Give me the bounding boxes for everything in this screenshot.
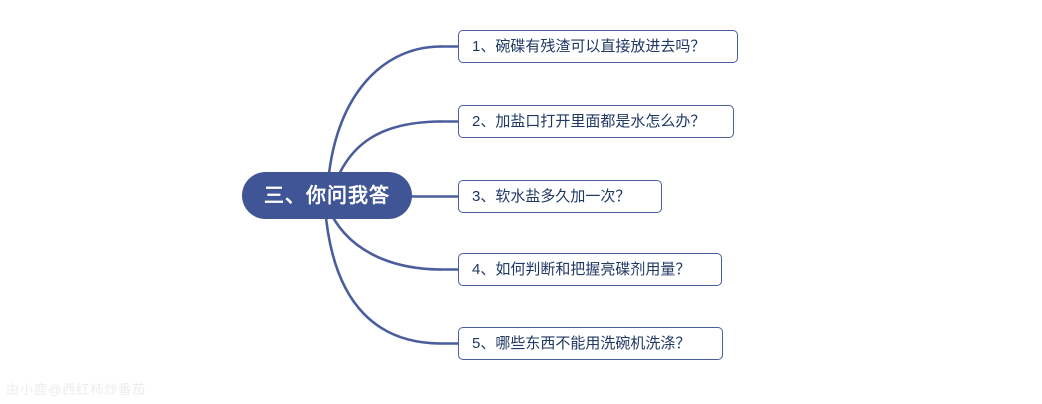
topic-label-4: 4、如何判断和把握亮碟剂用量？ bbox=[472, 262, 690, 277]
topic-box-4[interactable]: 4、如何判断和把握亮碟剂用量？ bbox=[458, 253, 722, 286]
watermark: 由小鹿@西红柿炒番茄 bbox=[6, 379, 146, 398]
topic-label-5: 5、哪些东西不能用洗碗机洗涤？ bbox=[472, 336, 690, 351]
topic-label-3: 3、软水盐多久加一次？ bbox=[472, 189, 630, 204]
central-node[interactable]: 三、你问我答 bbox=[242, 172, 412, 219]
topic-label-2: 2、加盐口打开里面都是水怎么办？ bbox=[472, 114, 705, 129]
topic-box-5[interactable]: 5、哪些东西不能用洗碗机洗涤？ bbox=[458, 327, 723, 360]
topic-box-3[interactable]: 3、软水盐多久加一次？ bbox=[458, 180, 662, 213]
topic-box-2[interactable]: 2、加盐口打开里面都是水怎么办？ bbox=[458, 105, 734, 138]
mindmap-canvas: 三、你问我答 1、碗碟有残渣可以直接放进去吗？ 2、加盐口打开里面都是水怎么办？… bbox=[0, 0, 1042, 404]
connector-curve-5 bbox=[325, 207, 440, 344]
topic-box-1[interactable]: 1、碗碟有残渣可以直接放进去吗？ bbox=[458, 30, 738, 63]
central-node-label: 三、你问我答 bbox=[264, 186, 390, 206]
topic-label-1: 1、碗碟有残渣可以直接放进去吗？ bbox=[472, 39, 705, 54]
